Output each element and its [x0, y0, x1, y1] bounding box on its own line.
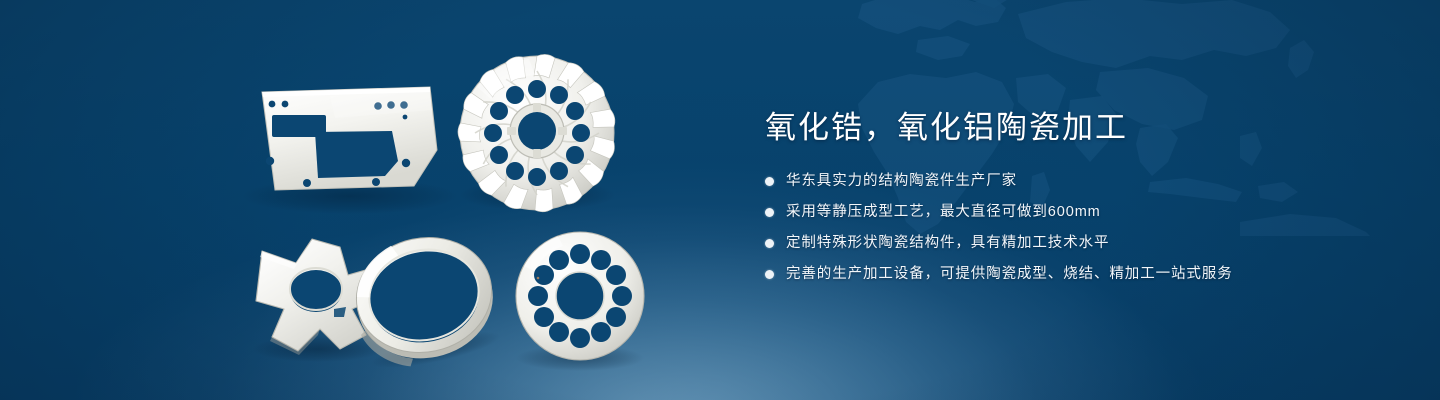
bullet-dot-icon	[765, 270, 774, 279]
bullet-dot-icon	[765, 239, 774, 248]
bullet-dot-icon	[765, 177, 774, 186]
feature-list-item: 定制特殊形状陶瓷结构件，具有精加工技术水平	[765, 232, 1365, 254]
feature-text: 采用等静压成型工艺，最大直径可做到600mm	[786, 201, 1101, 223]
banner-feature-list: 华东具实力的结构陶瓷件生产厂家 采用等静压成型工艺，最大直径可做到600mm 定…	[765, 170, 1365, 285]
feature-list-item: 华东具实力的结构陶瓷件生产厂家	[765, 170, 1365, 192]
feature-text: 完善的生产加工设备，可提供陶瓷成型、烧结、精加工一站式服务	[786, 263, 1233, 285]
feature-text: 定制特殊形状陶瓷结构件，具有精加工技术水平	[786, 232, 1109, 254]
product-photo-cluster	[0, 0, 700, 400]
banner-copy: 氧化锆，氧化铝陶瓷加工 华东具实力的结构陶瓷件生产厂家 采用等静压成型工艺，最大…	[765, 108, 1365, 294]
bullet-dot-icon	[765, 208, 774, 217]
ceramic-plate-photo	[242, 87, 458, 214]
ceramic-perforated-disc-photo	[516, 232, 644, 371]
ceramic-impeller-photo	[457, 54, 617, 214]
feature-list-item: 采用等静压成型工艺，最大直径可做到600mm	[765, 201, 1365, 223]
promo-banner: 氧化锆，氧化铝陶瓷加工 华东具实力的结构陶瓷件生产厂家 采用等静压成型工艺，最大…	[0, 0, 1440, 400]
banner-headline: 氧化锆，氧化铝陶瓷加工	[765, 108, 1365, 148]
feature-list-item: 完善的生产加工设备，可提供陶瓷成型、烧结、精加工一站式服务	[765, 263, 1365, 285]
feature-text: 华东具实力的结构陶瓷件生产厂家	[786, 170, 1017, 192]
